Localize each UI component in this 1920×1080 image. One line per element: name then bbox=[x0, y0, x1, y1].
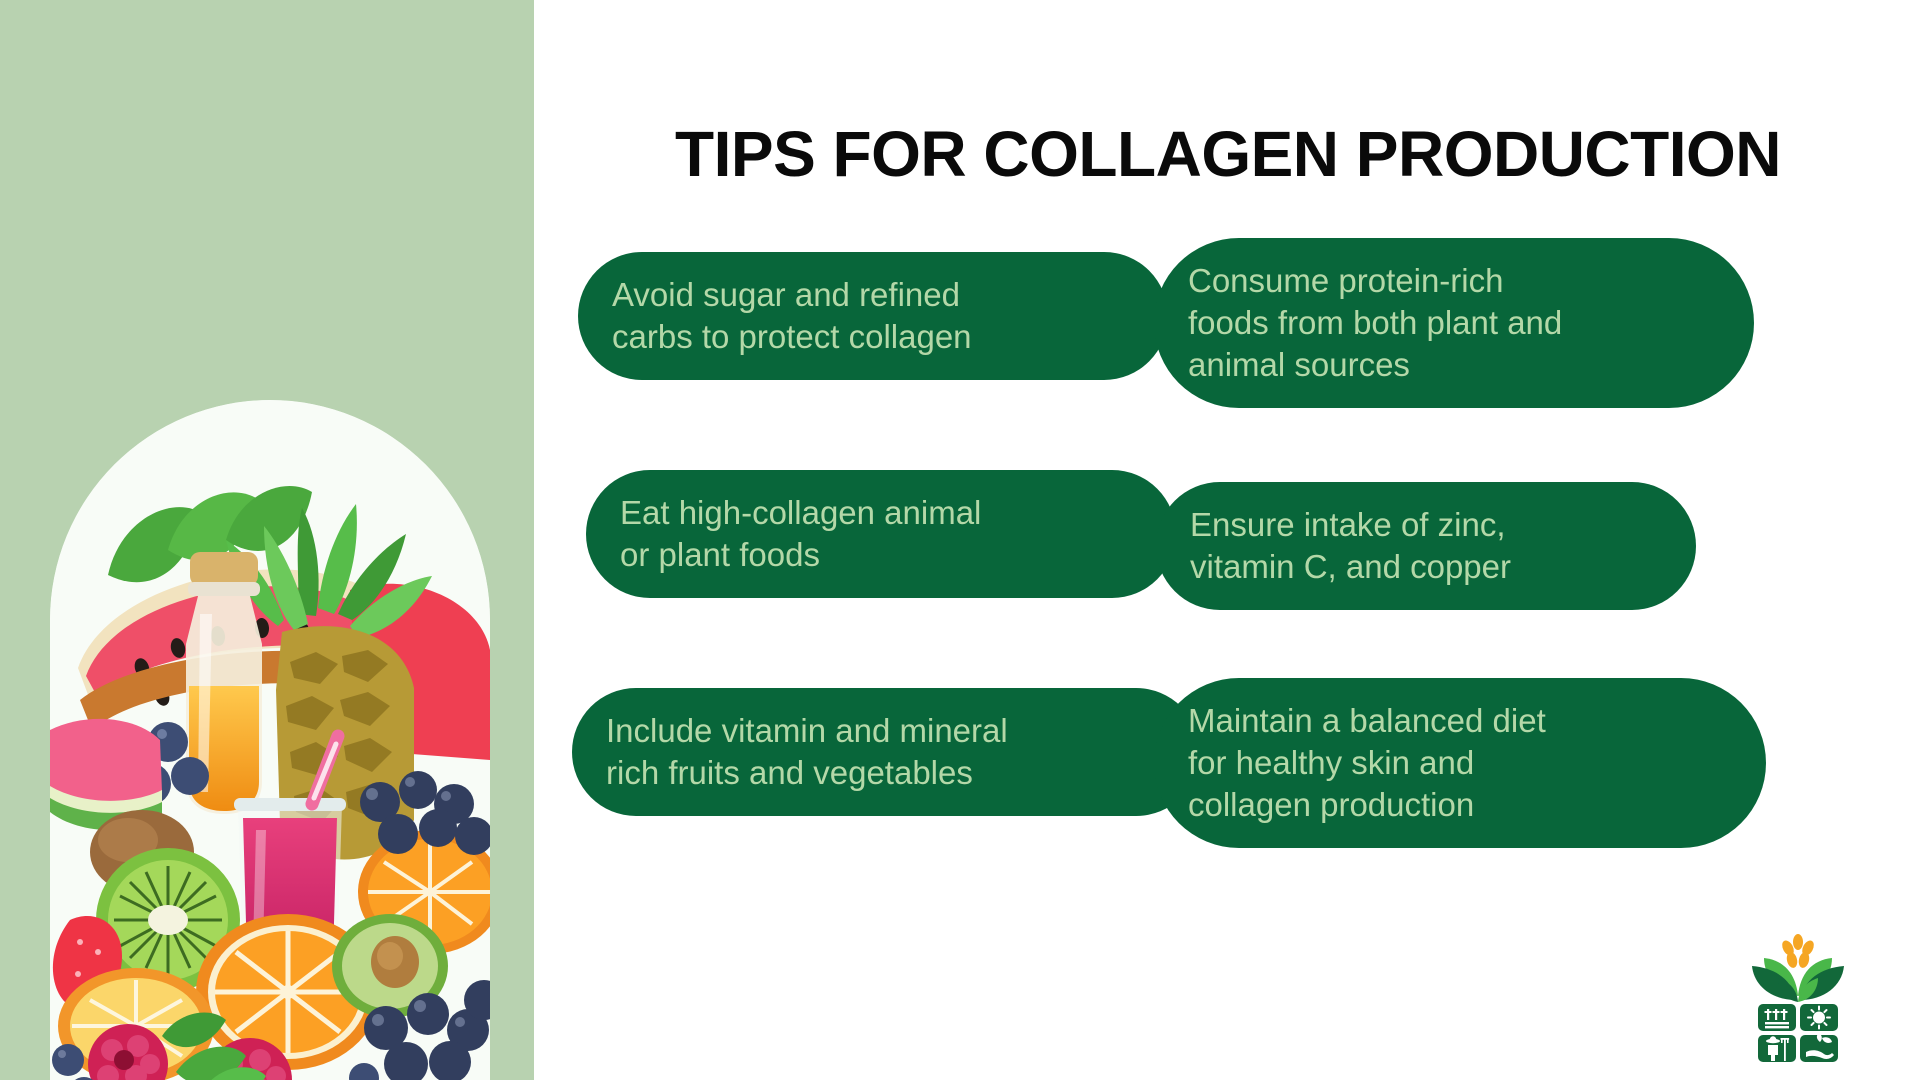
left-decorative-panel bbox=[0, 0, 534, 1080]
tips-grid: Avoid sugar and refined carbs to protect… bbox=[534, 270, 1920, 940]
main-content: TIPS FOR COLLAGEN PRODUCTION Avoid sugar… bbox=[534, 0, 1920, 1080]
arch-illustration-frame bbox=[50, 400, 490, 1080]
tip-pill-avoid-sugar[interactable]: Avoid sugar and refined carbs to protect… bbox=[578, 252, 1168, 380]
agriculture-plant-logo bbox=[1734, 934, 1862, 1062]
seed-cluster-icon bbox=[1780, 934, 1816, 969]
tip-pill-balanced-diet[interactable]: Maintain a balanced diet for healthy ski… bbox=[1154, 678, 1766, 848]
tip-pill-protein-rich-foods[interactable]: Consume protein-rich foods from both pla… bbox=[1154, 238, 1754, 408]
tip-pill-vitamin-mineral-produce[interactable]: Include vitamin and mineral rich fruits … bbox=[572, 688, 1200, 816]
tip-pill-zinc-vitamin-c-copper[interactable]: Ensure intake of zinc, vitamin C, and co… bbox=[1156, 482, 1696, 610]
leaf-pair-icon bbox=[1752, 958, 1844, 1002]
icon-tile-grid bbox=[1758, 1004, 1838, 1062]
fruit-illustration bbox=[50, 400, 490, 1080]
tip-pill-high-collagen-foods[interactable]: Eat high-collagen animal or plant foods bbox=[586, 470, 1176, 598]
page-title: TIPS FOR COLLAGEN PRODUCTION bbox=[568, 121, 1888, 188]
